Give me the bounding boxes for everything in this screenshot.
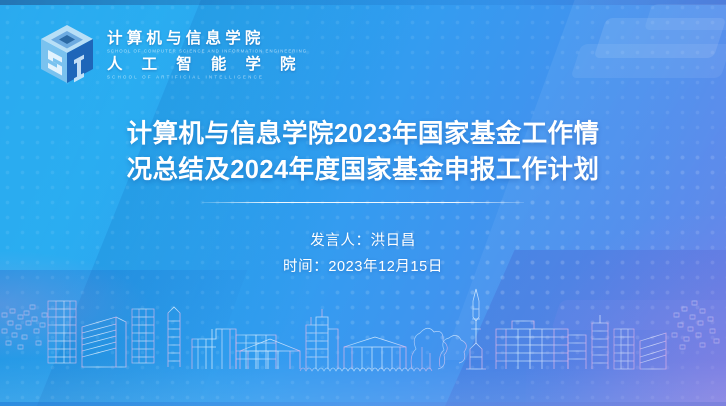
- title-divider: [202, 202, 524, 203]
- presentation-title-slide: 计算机与信息学院 SCHOOL OF COMPUTER SCIENCE AND …: [0, 0, 726, 406]
- institution-logo-block: 计算机与信息学院 SCHOOL OF COMPUTER SCIENCE AND …: [38, 22, 307, 86]
- background-panel: [570, 44, 726, 78]
- institution-name-en-secondary: SCHOOL OF ARTIFICIAL INTELLIGENCE: [107, 75, 307, 80]
- slide-title: 计算机与信息学院2023年国家基金工作情 况总结及2024年度国家基金申报工作计…: [0, 117, 726, 188]
- institution-logo-text: 计算机与信息学院 SCHOOL OF COMPUTER SCIENCE AND …: [107, 28, 307, 80]
- institution-name-cn-secondary: 人 工 智 能 学 院: [107, 56, 307, 73]
- bottom-edge-band: [0, 402, 726, 406]
- top-edge-band: [0, 0, 726, 5]
- institution-name-en-primary: SCHOOL OF COMPUTER SCIENCE AND INFORMATI…: [107, 49, 307, 54]
- date-line: 时间：2023年12月15日: [0, 254, 726, 280]
- slide-title-line-1: 计算机与信息学院2023年国家基金工作情: [0, 117, 726, 153]
- isometric-cube-si-logo-icon: [38, 22, 96, 86]
- city-skyline-illustration: [0, 271, 726, 406]
- speaker-line: 发言人：洪日昌: [0, 228, 726, 254]
- institution-name-cn-primary: 计算机与信息学院: [107, 30, 307, 47]
- background-panel: [644, 4, 726, 30]
- slide-meta: 发言人：洪日昌 时间：2023年12月15日: [0, 228, 726, 281]
- slide-title-line-2: 况总结及2024年度国家基金申报工作计划: [0, 153, 726, 189]
- background-panel: [594, 18, 726, 58]
